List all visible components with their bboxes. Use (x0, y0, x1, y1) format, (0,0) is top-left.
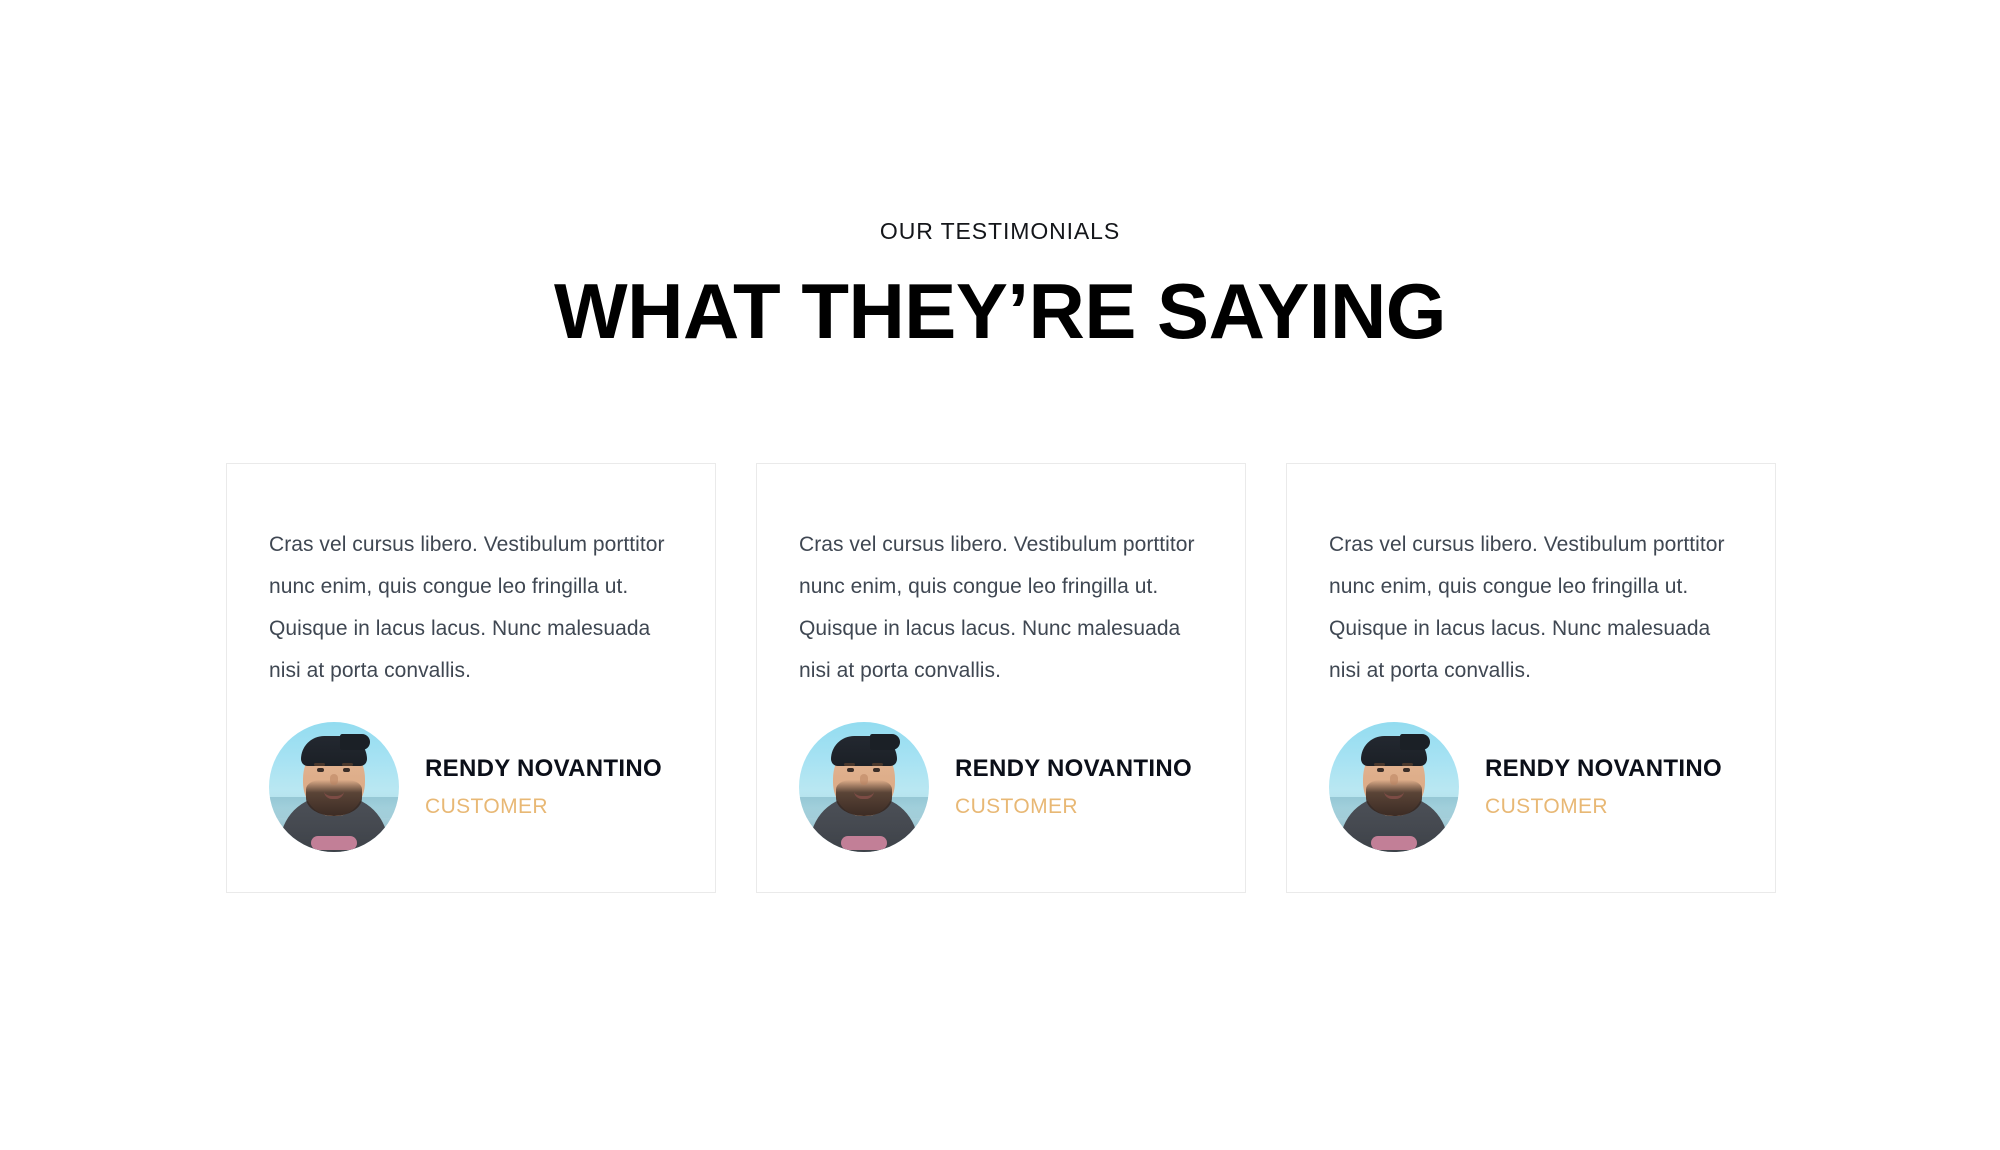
avatar (799, 722, 929, 852)
page-title: WHAT THEY’RE SAYING (0, 272, 2000, 352)
author-meta: RENDY NOVANTINO CUSTOMER (1485, 755, 1722, 819)
author-role: CUSTOMER (1485, 794, 1722, 819)
author-name: RENDY NOVANTINO (955, 755, 1192, 784)
avatar-eye-left (317, 768, 324, 772)
avatar-brow-right (1402, 763, 1413, 766)
testimonial-quote: Cras vel cursus libero. Vestibulum portt… (799, 524, 1203, 692)
testimonial-author: RENDY NOVANTINO CUSTOMER (1329, 722, 1733, 852)
author-name: RENDY NOVANTINO (425, 755, 662, 784)
avatar-cap-tail (340, 734, 370, 750)
avatar-shirt-graphic (841, 836, 887, 850)
avatar-shirt-graphic (311, 836, 357, 850)
avatar-nose (1390, 774, 1398, 785)
testimonial-card: Cras vel cursus libero. Vestibulum portt… (756, 463, 1246, 893)
avatar-brow-left (1374, 763, 1385, 766)
author-role: CUSTOMER (425, 794, 662, 819)
avatar-eye-left (1377, 768, 1384, 772)
avatar-eye-right (873, 768, 880, 772)
author-role: CUSTOMER (955, 794, 1192, 819)
avatar-eye-left (847, 768, 854, 772)
avatar-brow-right (342, 763, 353, 766)
author-meta: RENDY NOVANTINO CUSTOMER (955, 755, 1192, 819)
testimonial-quote: Cras vel cursus libero. Vestibulum portt… (1329, 524, 1733, 692)
avatar-eye-right (1403, 768, 1410, 772)
testimonial-quote: Cras vel cursus libero. Vestibulum portt… (269, 524, 673, 692)
testimonial-cards-row: Cras vel cursus libero. Vestibulum portt… (226, 463, 1778, 893)
avatar-brow-left (844, 763, 855, 766)
testimonial-card: Cras vel cursus libero. Vestibulum portt… (226, 463, 716, 893)
testimonial-author: RENDY NOVANTINO CUSTOMER (269, 722, 673, 852)
avatar-shirt-graphic (1371, 836, 1417, 850)
avatar-cap-tail (870, 734, 900, 750)
avatar-nose (330, 774, 338, 785)
author-meta: RENDY NOVANTINO CUSTOMER (425, 755, 662, 819)
avatar-nose (860, 774, 868, 785)
avatar (1329, 722, 1459, 852)
avatar-brow-right (872, 763, 883, 766)
avatar-eye-right (343, 768, 350, 772)
testimonial-card: Cras vel cursus libero. Vestibulum portt… (1286, 463, 1776, 893)
testimonials-page: OUR TESTIMONIALS WHAT THEY’RE SAYING Cra… (0, 0, 2000, 1150)
section-eyebrow: OUR TESTIMONIALS (0, 218, 2000, 246)
testimonial-author: RENDY NOVANTINO CUSTOMER (799, 722, 1203, 852)
avatar (269, 722, 399, 852)
avatar-brow-left (314, 763, 325, 766)
avatar-cap-tail (1400, 734, 1430, 750)
section-header: OUR TESTIMONIALS WHAT THEY’RE SAYING (0, 218, 2000, 351)
author-name: RENDY NOVANTINO (1485, 755, 1722, 784)
